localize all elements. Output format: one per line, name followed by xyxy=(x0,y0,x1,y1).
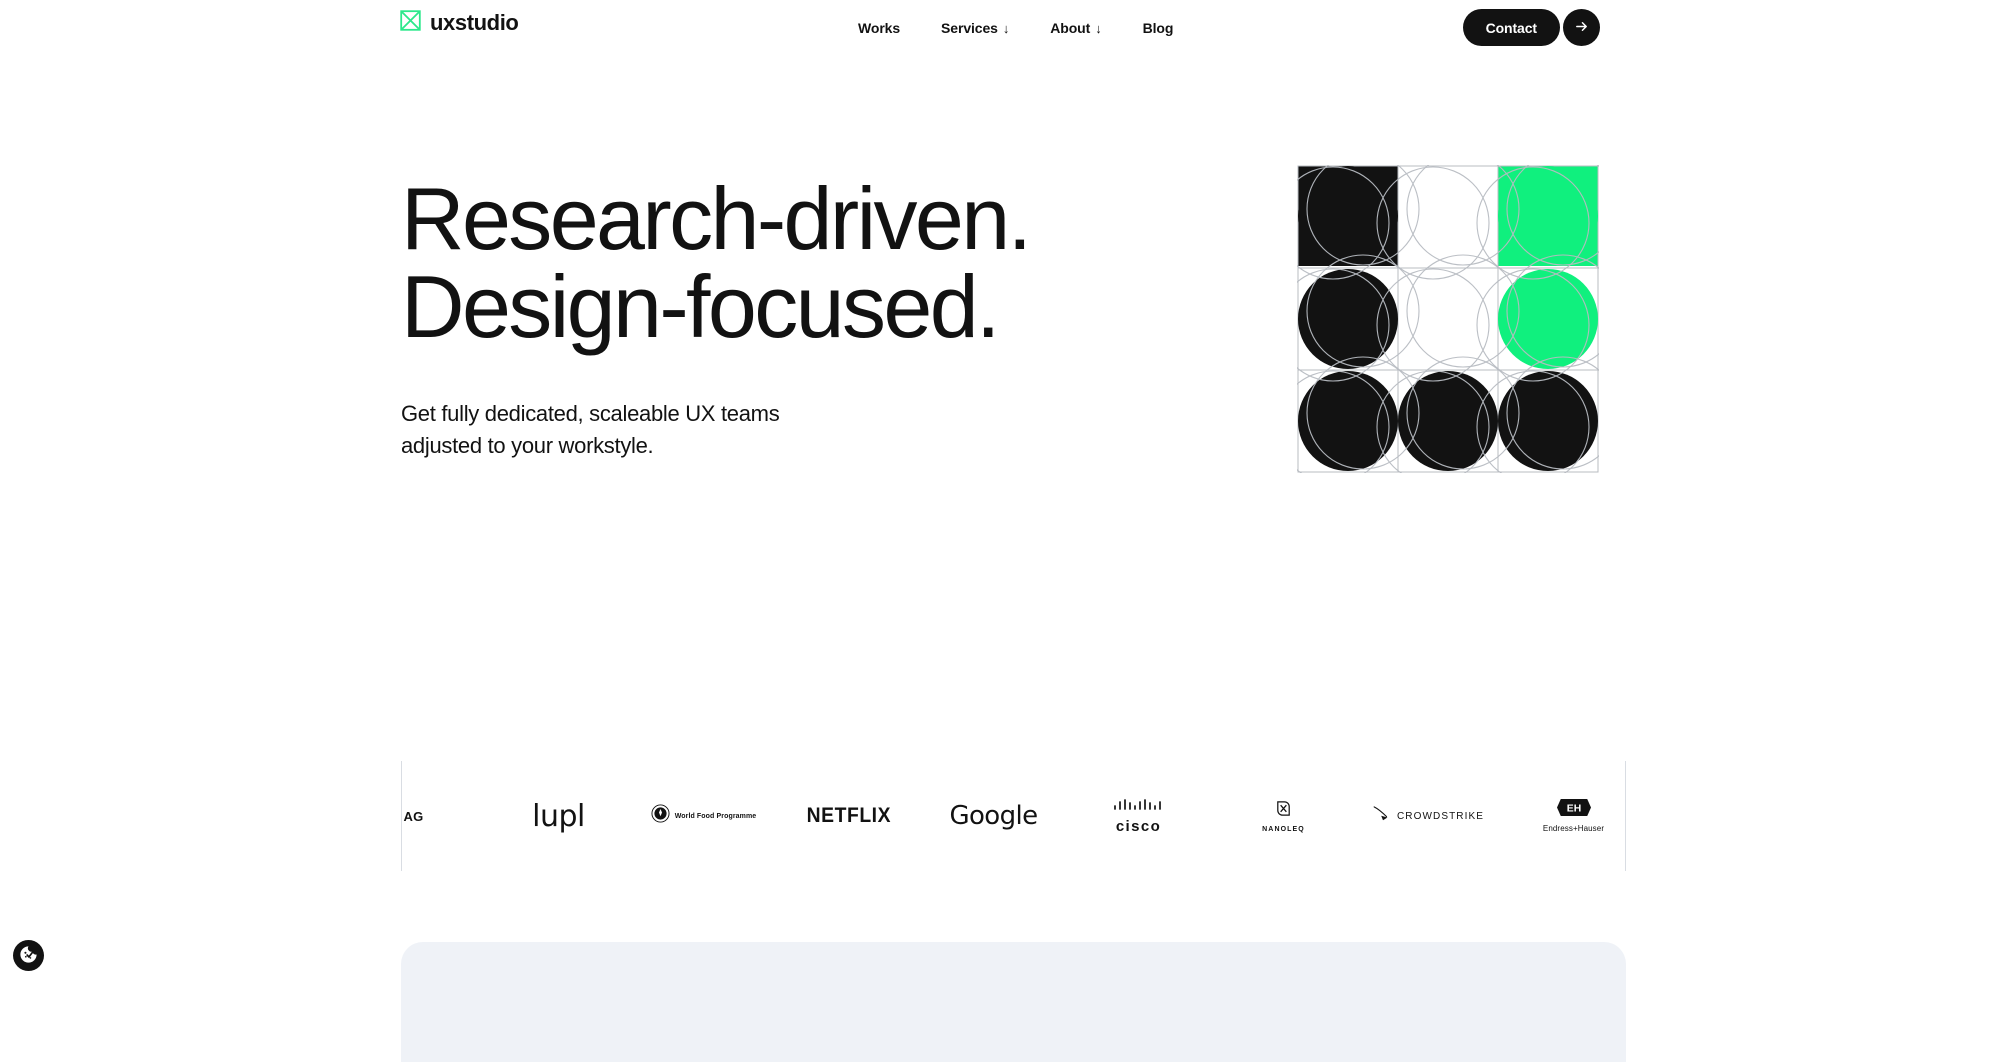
nav-item-services-label: Services xyxy=(941,20,998,36)
bottom-section-panel xyxy=(401,942,1626,1062)
hero-subtitle-line-1: Get fully dedicated, scaleable UX teams xyxy=(401,401,779,426)
nav-item-blog[interactable]: Blog xyxy=(1143,20,1174,36)
client-logo-lupl: lupl xyxy=(486,761,631,871)
contact-arrow-button[interactable] xyxy=(1563,9,1600,46)
hero-grid-circles-svg xyxy=(1297,165,1599,473)
client-logo-crowdstrike: CROWDSTRIKE xyxy=(1356,761,1501,871)
brand-logo[interactable]: uxstudio xyxy=(400,10,518,36)
client-logo-cisco-label: cisco xyxy=(1116,818,1161,835)
wfp-seal-icon xyxy=(651,804,670,828)
hero-copy: Research-driven. Design-focused. Get ful… xyxy=(401,175,1161,462)
chevron-down-icon: ↓ xyxy=(1003,22,1009,35)
art-circle-r1c2 xyxy=(1498,269,1598,369)
client-logo-ag: AG xyxy=(401,761,486,871)
chevron-down-icon: ↓ xyxy=(1095,22,1101,35)
hero-title-line-2: Design-focused. xyxy=(401,263,1161,351)
hero-graphic xyxy=(1297,165,1599,473)
nav-item-about-label: About xyxy=(1050,20,1090,36)
client-logo-ag-label: AG xyxy=(403,809,423,824)
client-logo-endress-hauser: EH Endress+Hauser xyxy=(1501,761,1626,871)
logo-track: AG lupl World Food Programme NETFLIX xyxy=(401,761,1626,871)
site-header: uxstudio Works Services ↓ About ↓ Blog C… xyxy=(0,0,2000,55)
page-title: Research-driven. Design-focused. xyxy=(401,175,1161,351)
nanoleq-mark-icon xyxy=(1274,799,1293,823)
client-logo-cisco: cisco xyxy=(1066,761,1211,871)
hero-subtitle: Get fully dedicated, scaleable UX teams … xyxy=(401,351,841,462)
hero-title-line-1: Research-driven. xyxy=(401,175,1161,263)
crowdstrike-falcon-icon xyxy=(1373,806,1393,827)
client-logo-wfp: World Food Programme xyxy=(631,761,776,871)
header-actions: Contact xyxy=(1463,9,1600,46)
endress-hauser-mark-icon: EH xyxy=(1557,799,1591,821)
client-logo-crowdstrike-label: CROWDSTRIKE xyxy=(1397,811,1484,822)
art-circle-r0c0 xyxy=(1298,166,1398,266)
art-circle-r2c2 xyxy=(1498,371,1598,471)
client-logo-endress-hauser-label: Endress+Hauser xyxy=(1543,824,1604,833)
hero-subtitle-line-2: adjusted to your workstyle. xyxy=(401,433,653,458)
cookie-consent-icon xyxy=(18,944,39,968)
brand-name: uxstudio xyxy=(430,12,518,34)
client-logo-nanoleq: NANOLEQ xyxy=(1211,761,1356,871)
client-logo-google: Google xyxy=(921,761,1066,871)
main-navigation: Works Services ↓ About ↓ Blog xyxy=(858,0,1173,55)
nav-item-works[interactable]: Works xyxy=(858,20,900,36)
nav-item-services[interactable]: Services ↓ xyxy=(941,20,1009,36)
x-square-logo-icon xyxy=(400,10,421,36)
client-logo-nanoleq-label: NANOLEQ xyxy=(1262,826,1305,833)
contact-button[interactable]: Contact xyxy=(1463,9,1560,46)
nav-item-about[interactable]: About ↓ xyxy=(1050,20,1101,36)
art-circle-r0c2 xyxy=(1498,166,1598,266)
cookie-consent-button[interactable] xyxy=(13,940,44,971)
nav-item-blog-label: Blog xyxy=(1143,20,1174,36)
svg-text:EH: EH xyxy=(1566,804,1580,815)
art-circle-r2c0 xyxy=(1298,371,1398,471)
client-logo-netflix: NETFLIX xyxy=(776,761,921,871)
client-logo-strip: AG lupl World Food Programme NETFLIX xyxy=(401,761,1626,871)
arrow-right-icon xyxy=(1574,19,1589,37)
client-logo-wfp-label: World Food Programme xyxy=(675,813,757,820)
client-logo-netflix-label: NETFLIX xyxy=(806,804,890,828)
art-circle-r2c1 xyxy=(1398,371,1498,471)
client-logo-lupl-label: lupl xyxy=(532,799,585,834)
client-logo-google-label: Google xyxy=(949,801,1037,831)
nav-item-works-label: Works xyxy=(858,20,900,36)
art-circle-r1c0 xyxy=(1298,269,1398,369)
cisco-bars-icon xyxy=(1113,798,1165,816)
